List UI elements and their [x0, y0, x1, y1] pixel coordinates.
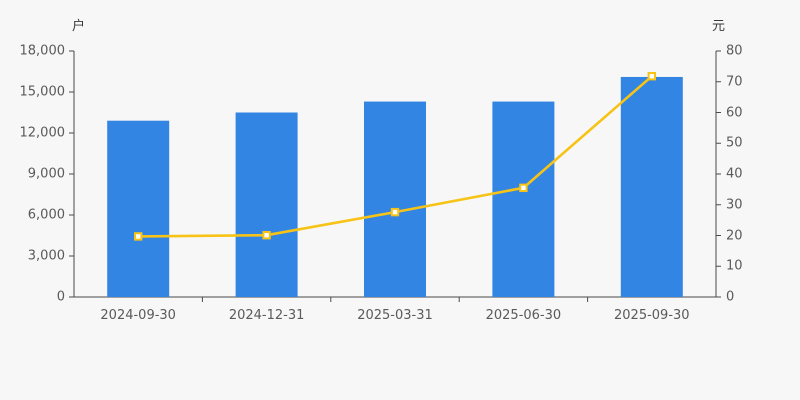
right-axis-tick-label: 50	[726, 137, 743, 150]
left-axis-tick-label: 12,000	[20, 127, 66, 140]
line-marker[interactable]	[263, 232, 269, 238]
bar[interactable]	[492, 102, 554, 297]
chart-svg	[0, 0, 800, 400]
bar[interactable]	[107, 121, 169, 297]
right-axis-tick-label: 70	[726, 75, 743, 88]
x-axis-category-label: 2025-06-30	[486, 309, 562, 322]
right-axis-tick-label: 80	[726, 45, 743, 58]
right-axis-tick-label: 20	[726, 229, 743, 242]
bar[interactable]	[236, 113, 298, 298]
x-axis-category-label: 2024-09-30	[100, 309, 176, 322]
left-axis-tick-label: 15,000	[20, 86, 66, 99]
left-axis-tick-label: 6,000	[28, 209, 65, 222]
right-axis-tick-label: 60	[726, 106, 743, 119]
right-axis-tick-label: 0	[726, 291, 734, 304]
bar[interactable]	[621, 77, 683, 297]
x-axis-category-label: 2025-09-30	[614, 309, 690, 322]
line-marker[interactable]	[649, 73, 655, 79]
right-axis-tick-label: 30	[726, 198, 743, 211]
bar[interactable]	[364, 102, 426, 297]
left-axis-tick-label: 3,000	[28, 250, 65, 263]
x-axis-category-label: 2024-12-31	[229, 309, 305, 322]
left-axis-tick-label: 0	[57, 291, 65, 304]
right-axis-tick-label: 40	[726, 168, 743, 181]
line-marker[interactable]	[392, 209, 398, 215]
x-axis-category-label: 2025-03-31	[357, 309, 433, 322]
chart-container: 户 元 03,0006,0009,00012,00015,00018,00001…	[0, 0, 800, 400]
right-axis-tick-label: 10	[726, 260, 743, 273]
left-axis-tick-label: 18,000	[20, 45, 66, 58]
line-marker[interactable]	[135, 233, 141, 239]
line-marker[interactable]	[520, 185, 526, 191]
plot-area: 03,0006,0009,00012,00015,00018,000010203…	[0, 0, 800, 400]
left-axis-tick-label: 9,000	[28, 168, 65, 181]
